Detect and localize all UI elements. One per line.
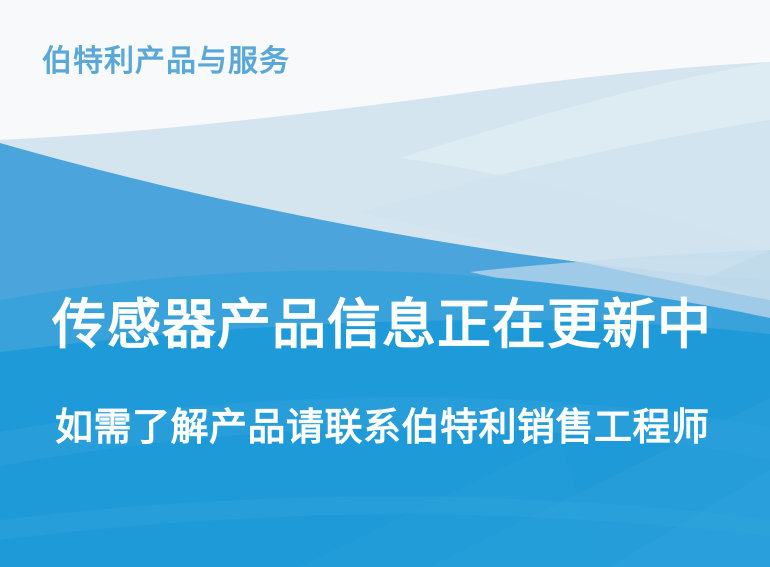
background-decoration <box>0 0 770 567</box>
promo-banner: 伯特利产品与服务 传感器产品信息正在更新中 如需了解产品请联系伯特利销售工程师 <box>0 0 770 567</box>
